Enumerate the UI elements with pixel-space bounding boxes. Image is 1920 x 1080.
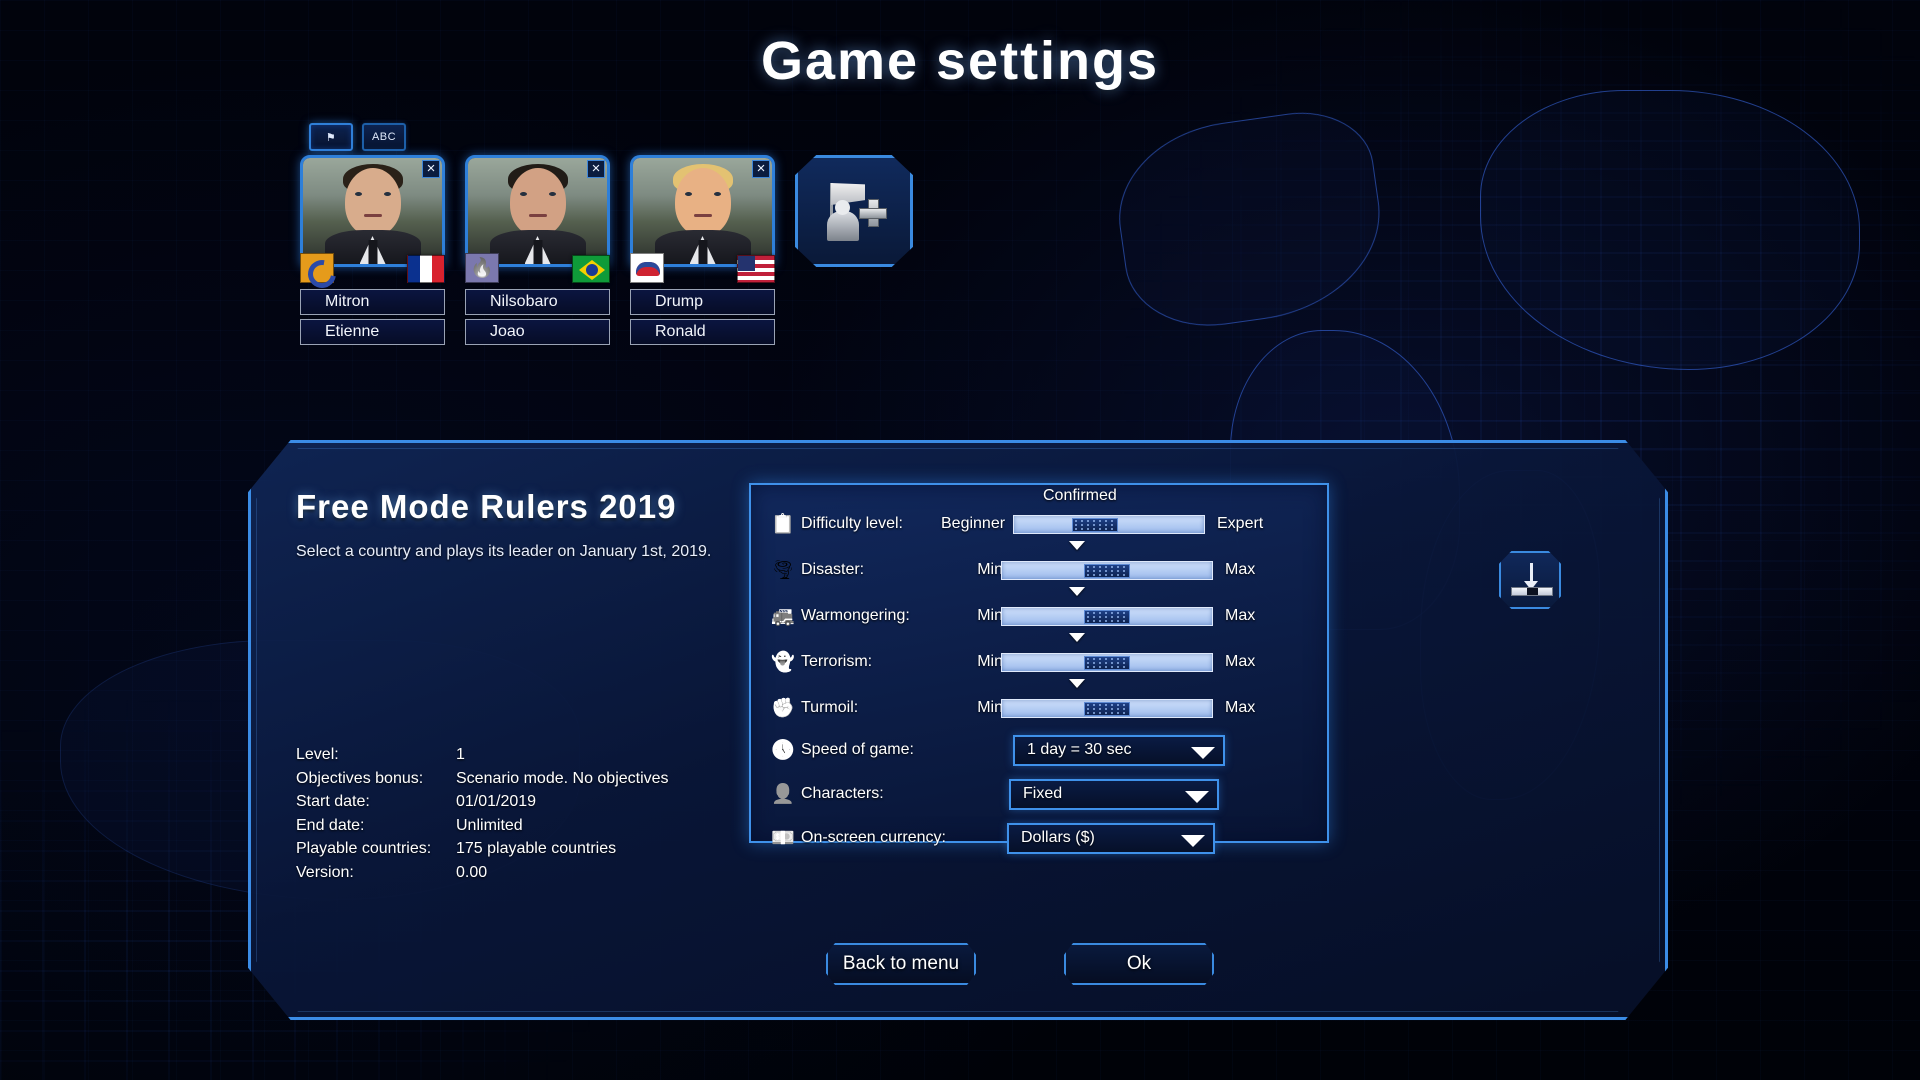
flag-brazil-icon [572,255,610,283]
setting-label: Difficulty level: [801,515,941,533]
info-key: Playable countries: [296,837,456,861]
setting-min-label: Beginner [941,515,1013,533]
fist-icon: ✊ [765,693,801,723]
scenario-info-table: Level: 1 Objectives bonus: Scenario mode… [296,743,669,884]
leader-surname-field[interactable]: Nilsobaro [465,289,610,315]
setting-max-label: Max [1213,561,1255,579]
info-key: Start date: [296,790,456,814]
setting-max-label: Expert [1205,515,1263,533]
leader-badges [300,249,445,283]
mouth [529,214,547,217]
add-player-slot-button[interactable] [795,155,913,267]
info-value: 0.00 [456,861,487,885]
slider-caret-icon [1069,633,1085,642]
speed-of-game-dropdown[interactable]: 1 day = 30 sec [1013,735,1225,766]
abc-toggle-button[interactable]: ABC [362,123,406,151]
chevron-down-icon [1181,835,1205,847]
person-body [827,211,859,241]
info-row: End date: Unlimited [296,814,669,838]
info-row: Objectives bonus: Scenario mode. No obje… [296,767,669,791]
info-row: Start date: 01/01/2019 [296,790,669,814]
abc-label: ABC [372,131,396,143]
slider-knob[interactable] [1072,518,1118,532]
setting-row-currency: 💵 On-screen currency: Dollars ($) [765,821,1215,855]
head [345,168,401,236]
setting-row-disaster: 🌪 Disaster: Min Max [765,555,1317,585]
download-arrow-icon [1530,563,1533,583]
slider-caret-icon [1069,679,1085,688]
panel-footer-buttons: Back to menu Ok [826,943,1214,985]
slider-knob[interactable] [1084,610,1130,624]
dropdown-value: Dollars ($) [1021,829,1095,847]
scenario-title: Free Mode Rulers 2019 [296,488,677,526]
setting-row-difficulty: 📋 Difficulty level: Beginner Expert [765,509,1317,539]
setting-max-label: Max [1213,699,1255,717]
info-value: Scenario mode. No objectives [456,767,669,791]
page-title: Game settings [0,30,1920,92]
party-emblem-republican-icon [630,253,664,283]
setting-label: Terrorism: [801,653,941,671]
remove-leader-button[interactable]: × [422,160,440,178]
banknote-icon: 💵 [765,823,801,853]
game-settings-screen: Game settings ⚑ ABC [0,0,1920,1080]
setting-row-terrorism: 👻 Terrorism: Min Max [765,647,1317,677]
ok-button[interactable]: Ok [1064,943,1214,985]
leader-firstname-field[interactable]: Ronald [630,319,775,345]
scenario-description: Select a country and plays its leader on… [296,543,711,561]
setting-label: On-screen currency: [801,829,971,847]
leader-card[interactable]: × Nilsobaro Joao [465,155,610,345]
info-row: Level: 1 [296,743,669,767]
turmoil-slider[interactable] [1001,699,1213,718]
leader-badges [630,249,775,283]
setting-row-speed: 🕔 Speed of game: 1 day = 30 sec [765,733,1225,767]
dropdown-value: 1 day = 30 sec [1027,741,1132,759]
leader-surname-field[interactable]: Mitron [300,289,445,315]
info-key: Objectives bonus: [296,767,456,791]
setting-label: Warmongering: [801,607,941,625]
slider-knob[interactable] [1084,702,1130,716]
chevron-down-icon [1185,791,1209,803]
setting-label: Characters: [801,785,941,803]
eye-left [355,192,362,196]
slider-knob[interactable] [1084,656,1130,670]
info-key: Level: [296,743,456,767]
info-value: Unlimited [456,814,523,838]
dropdown-value: Fixed [1023,785,1062,803]
confirmed-label: Confirmed [1043,487,1117,505]
add-player-icon [825,181,883,241]
person-head [835,200,850,215]
setting-row-warmongering: 🚒 Warmongering: Min Max [765,601,1317,631]
remove-leader-button[interactable]: × [587,160,605,178]
top-toolbar: ⚑ ABC [309,123,406,151]
info-row: Playable countries: 175 playable countri… [296,837,669,861]
flag-toggle-button[interactable]: ⚑ [309,123,353,151]
terrorism-slider[interactable] [1001,653,1213,672]
eye-right [714,192,721,196]
characters-icon: 👤 [765,779,801,809]
info-key: Version: [296,861,456,885]
leader-surname-field[interactable]: Drump [630,289,775,315]
warmongering-slider[interactable] [1001,607,1213,626]
setting-label: Speed of game: [801,741,941,759]
leader-firstname-field[interactable]: Etienne [300,319,445,345]
slider-bar-icon [1511,587,1553,596]
chevron-down-icon [1191,747,1215,759]
apply-settings-button[interactable] [1499,551,1561,609]
plus-icon [859,199,885,225]
leader-card[interactable]: × Mitron Etienne [300,155,445,345]
setting-row-characters: 👤 Characters: Fixed [765,777,1219,811]
disaster-slider[interactable] [1001,561,1213,580]
currency-dropdown[interactable]: Dollars ($) [1007,823,1215,854]
mouth [364,214,382,217]
eye-left [520,192,527,196]
slider-caret-icon [1069,541,1085,550]
party-emblem-orange-icon [300,253,334,283]
setting-row-turmoil: ✊ Turmoil: Min Max [765,693,1317,723]
eye-right [384,192,391,196]
flag-icon: ⚑ [326,131,336,144]
leader-badges [465,249,610,283]
setting-label: Turmoil: [801,699,941,717]
slider-caret-icon [1069,587,1085,596]
info-value: 175 playable countries [456,837,616,861]
difficulty-slider[interactable] [1013,515,1205,534]
party-emblem-purple-icon [465,253,499,283]
leader-firstname-field[interactable]: Joao [465,319,610,345]
leader-card[interactable]: × Drump Ronald [630,155,775,345]
settings-panel: Free Mode Rulers 2019 Select a country a… [248,440,1668,1020]
flag-usa-icon [737,255,775,283]
terrorist-icon: 👻 [765,647,801,677]
setting-max-label: Max [1213,607,1255,625]
game-options-box: Confirmed 📋 Difficulty level: Beginner E… [749,483,1329,843]
back-to-menu-button[interactable]: Back to menu [826,943,976,985]
leader-card-list: × Mitron Etienne [300,155,913,345]
mouth [694,214,712,217]
info-key: End date: [296,814,456,838]
setting-label: Disaster: [801,561,941,579]
remove-leader-button[interactable]: × [752,160,770,178]
eye-left [685,192,692,196]
head [510,168,566,236]
info-value: 1 [456,743,465,767]
slider-knob[interactable] [1084,564,1130,578]
info-value: 01/01/2019 [456,790,536,814]
head [675,168,731,236]
clock-icon: 🕔 [765,735,801,765]
info-row: Version: 0.00 [296,861,669,885]
difficulty-blocks-icon: 📋 [765,509,801,539]
tank-icon: 🚒 [765,601,801,631]
eye-right [549,192,556,196]
setting-max-label: Max [1213,653,1255,671]
characters-dropdown[interactable]: Fixed [1009,779,1219,810]
tornado-icon: 🌪 [765,555,801,585]
flag-france-icon [407,255,445,283]
